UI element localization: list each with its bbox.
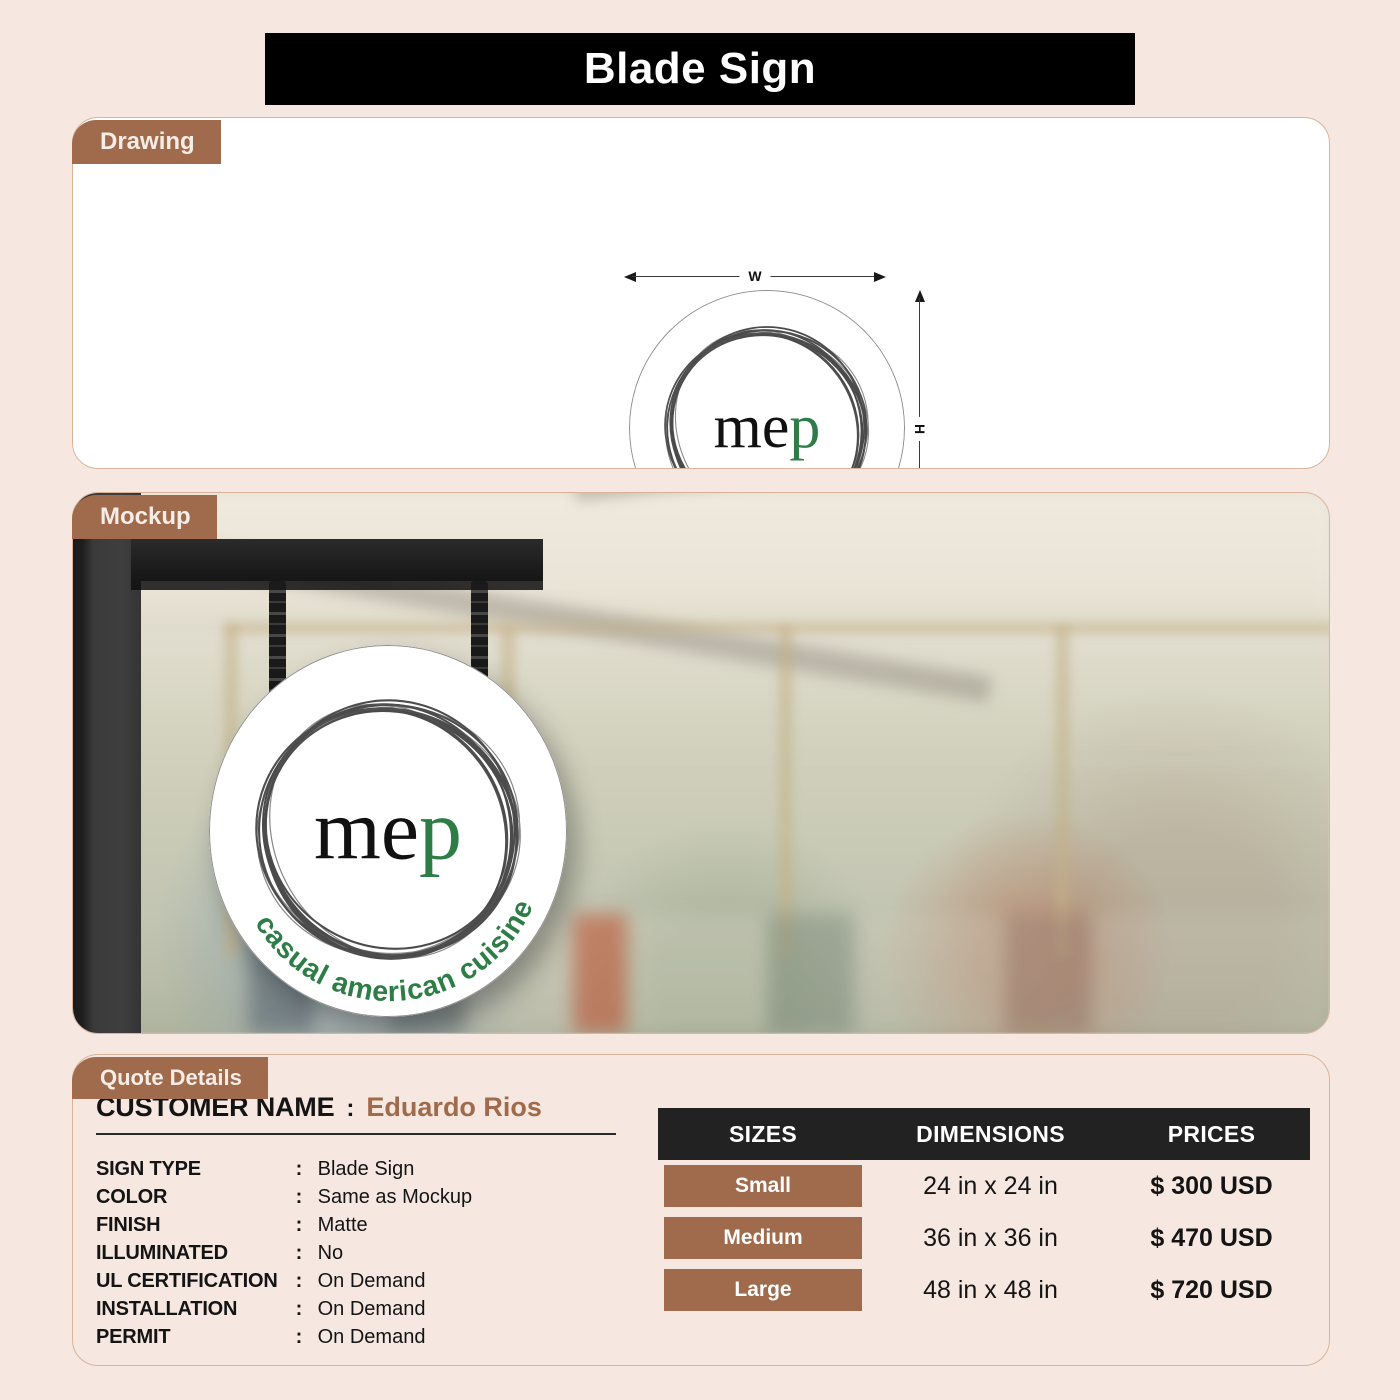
spec-key: SIGN TYPE xyxy=(96,1155,296,1183)
spec-row: PERMIT : On Demand xyxy=(96,1323,472,1351)
pricing-size-cell: Medium xyxy=(658,1217,868,1259)
width-dimension-arrow: W xyxy=(624,270,886,284)
pricing-dimensions-cell: 24 in x 24 in xyxy=(868,1172,1113,1201)
spec-key: PERMIT xyxy=(96,1323,296,1351)
tab-mockup[interactable]: Mockup xyxy=(72,495,217,539)
tab-drawing-label: Drawing xyxy=(100,128,195,156)
tab-drawing[interactable]: Drawing xyxy=(72,120,221,164)
pricing-dimensions-cell: 48 in x 48 in xyxy=(868,1276,1113,1305)
pricing-size-cell: Large xyxy=(658,1269,868,1311)
spec-value: On Demand xyxy=(318,1295,473,1323)
pricing-row[interactable]: Medium 36 in x 36 in $ 470 USD xyxy=(658,1212,1310,1264)
page-title-banner: Blade Sign xyxy=(265,33,1135,105)
height-dimension-arrow: H xyxy=(913,290,927,469)
spec-key: UL CERTIFICATION xyxy=(96,1267,296,1295)
height-dimension-label: H xyxy=(912,417,928,441)
pricing-price-cell: $ 720 USD xyxy=(1113,1276,1310,1305)
arrow-right-icon xyxy=(874,272,886,282)
svg-text:casual american cuisine: casual american cuisine xyxy=(662,466,881,469)
pricing-price-cell: $ 470 USD xyxy=(1113,1224,1310,1253)
spec-row: SIGN TYPE : Blade Sign xyxy=(96,1155,472,1183)
pricing-table: SIZES DIMENSIONS PRICES Small 24 in x 24… xyxy=(658,1108,1310,1316)
size-chip-large: Large xyxy=(664,1269,862,1311)
page-title: Blade Sign xyxy=(584,47,816,91)
spec-separator: : xyxy=(296,1323,318,1351)
spec-separator: : xyxy=(296,1295,318,1323)
dimension-line xyxy=(919,298,920,469)
pricing-dimensions-cell: 36 in x 36 in xyxy=(868,1224,1113,1253)
logo-tagline-text: casual american cuisine xyxy=(249,894,540,1008)
sign-artwork-drawing: mep casual american cuisine xyxy=(629,290,905,469)
mockup-card: mep casual american cuisine xyxy=(72,492,1330,1034)
pricing-row[interactable]: Small 24 in x 24 in $ 300 USD xyxy=(658,1160,1310,1212)
pricing-table-header: SIZES DIMENSIONS PRICES xyxy=(658,1108,1310,1160)
svg-text:casual american cuisine: casual american cuisine xyxy=(249,894,540,1008)
spec-separator: : xyxy=(296,1211,318,1239)
spec-separator: : xyxy=(296,1183,318,1211)
tab-mockup-label: Mockup xyxy=(100,503,191,531)
spec-value: On Demand xyxy=(318,1323,473,1351)
spec-value: Same as Mockup xyxy=(318,1183,473,1211)
tab-quote-details-label: Quote Details xyxy=(100,1065,242,1091)
customer-name-colon: : xyxy=(346,1095,354,1123)
logo-tagline-arc: casual american cuisine xyxy=(629,290,905,469)
mockup-scene: mep casual american cuisine xyxy=(73,493,1329,1033)
logo-tagline-text: casual american cuisine xyxy=(662,466,881,469)
pricing-header-prices: PRICES xyxy=(1113,1121,1310,1148)
logo-tagline-arc: casual american cuisine xyxy=(209,645,567,1017)
spec-key: ILLUMINATED xyxy=(96,1239,296,1267)
sign-artwork-mockup: mep casual american cuisine xyxy=(209,645,567,1017)
pricing-header-dimensions: DIMENSIONS xyxy=(868,1121,1113,1148)
pricing-size-cell: Small xyxy=(658,1165,868,1207)
spec-row: INSTALLATION : On Demand xyxy=(96,1295,472,1323)
spec-value: On Demand xyxy=(318,1267,473,1295)
spec-row: ILLUMINATED : No xyxy=(96,1239,472,1267)
spec-key: FINISH xyxy=(96,1211,296,1239)
spec-value: Blade Sign xyxy=(318,1155,473,1183)
spec-value: Matte xyxy=(318,1211,473,1239)
tab-quote-details[interactable]: Quote Details xyxy=(72,1057,268,1099)
mount-bracket-arm xyxy=(131,539,543,581)
pricing-row[interactable]: Large 48 in x 48 in $ 720 USD xyxy=(658,1264,1310,1316)
spec-row: FINISH : Matte xyxy=(96,1211,472,1239)
spec-value: No xyxy=(318,1239,473,1267)
drawing-stage: W H xyxy=(73,118,1329,468)
spec-row: UL CERTIFICATION : On Demand xyxy=(96,1267,472,1295)
spec-table: SIGN TYPE : Blade Sign COLOR : Same as M… xyxy=(96,1155,472,1351)
size-chip-medium: Medium xyxy=(664,1217,862,1259)
size-chip-small: Small xyxy=(664,1165,862,1207)
width-dimension-label: W xyxy=(739,267,770,285)
spec-key: COLOR xyxy=(96,1183,296,1211)
spec-separator: : xyxy=(296,1155,318,1183)
spec-key: INSTALLATION xyxy=(96,1295,296,1323)
spec-row: COLOR : Same as Mockup xyxy=(96,1183,472,1211)
spec-separator: : xyxy=(296,1267,318,1295)
spec-separator: : xyxy=(296,1239,318,1267)
pricing-header-sizes: SIZES xyxy=(658,1121,868,1148)
customer-name-value: Eduardo Rios xyxy=(366,1092,542,1123)
pricing-price-cell: $ 300 USD xyxy=(1113,1172,1310,1201)
quote-spec-panel: CUSTOMER NAME : Eduardo Rios SIGN TYPE :… xyxy=(96,1092,616,1351)
drawing-card: W H xyxy=(72,117,1330,469)
